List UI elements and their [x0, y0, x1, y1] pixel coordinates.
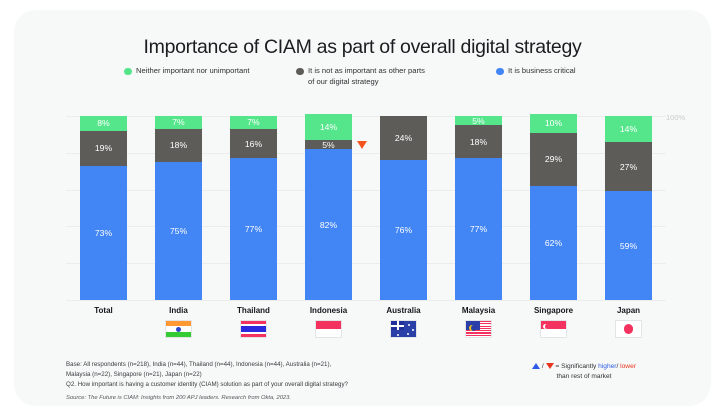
bar-segment-label: 18% [170, 140, 187, 150]
bar-segment-gray[interactable]: 24% [380, 116, 427, 160]
bar-segment-blue[interactable]: 75% [155, 162, 202, 300]
bar-segment-blue[interactable]: 77% [230, 158, 277, 300]
flag-japan-icon [590, 320, 668, 338]
bar-segment-label: 10% [545, 118, 562, 128]
x-axis-label-singapore: Singapore [515, 306, 593, 315]
bar-segment-green[interactable]: 7% [155, 116, 202, 129]
bar-segment-label: 7% [172, 117, 184, 127]
bar-segment-green[interactable]: 14% [605, 116, 652, 142]
chart-legend: Neither important nor unimportant It is … [124, 66, 644, 98]
flag-malaysia-icon [440, 320, 518, 338]
x-axis-label-japan: Japan [590, 306, 668, 315]
bar-india[interactable]: 7%18%75% [155, 116, 202, 300]
significance-slash: / [616, 363, 618, 370]
bar-segment-gray[interactable]: 18% [155, 129, 202, 162]
bar-segment-gray[interactable]: 29% [530, 133, 577, 186]
x-axis-label-thailand: Thailand [215, 306, 293, 315]
legend-dot-gray [296, 68, 304, 76]
bar-segment-label: 14% [620, 124, 637, 134]
footnote-source: Source: The Future is CIAM: Insights fro… [66, 395, 486, 401]
gridline [66, 300, 666, 301]
bar-indonesia[interactable]: 14%5%82% [305, 114, 352, 300]
legend-dot-green [124, 68, 132, 76]
flag-india-icon [140, 320, 218, 338]
chart-card: Importance of CIAM as part of overall di… [14, 10, 711, 406]
bar-segment-label: 19% [95, 143, 112, 153]
legend-item-neither: Neither important nor unimportant [124, 66, 256, 77]
bar-malaysia[interactable]: 5%18%77% [455, 116, 502, 300]
significance-higher: higher [598, 363, 616, 370]
footnote-base-line1: Base: All respondents (n=218), India (n=… [66, 360, 446, 370]
x-axis-label-australia: Australia [365, 306, 443, 315]
bar-segment-label: 73% [95, 228, 112, 238]
bar-segment-blue[interactable]: 73% [80, 166, 127, 300]
x-axis-label-india: India [140, 306, 218, 315]
bar-total[interactable]: 8%19%73% [80, 116, 127, 300]
flag-indonesia-icon [290, 320, 368, 338]
bar-segment-blue[interactable]: 76% [380, 160, 427, 300]
flag-thailand-icon [215, 320, 293, 338]
bar-segment-gray[interactable]: 5% [305, 140, 352, 149]
bar-segment-label: 5% [472, 116, 484, 125]
bar-segment-label: 14% [320, 122, 337, 132]
significance-legend: / = Significantly higher/ lower than res… [484, 362, 684, 382]
bar-segment-label: 75% [170, 226, 187, 236]
bar-segment-gray[interactable]: 27% [605, 142, 652, 192]
bar-segment-green[interactable]: 14% [305, 114, 352, 140]
legend-item-not-as-important: It is not as important as other parts of… [296, 66, 428, 87]
bar-singapore[interactable]: 10%29%62% [530, 114, 577, 300]
significance-equals: = Significantly [555, 363, 596, 370]
bar-segment-blue[interactable]: 77% [455, 158, 502, 300]
footnote-base: Base: All respondents (n=218), India (n=… [66, 360, 446, 390]
bar-segment-label: 76% [395, 225, 412, 235]
bar-australia[interactable]: 24%76% [380, 116, 427, 300]
flag-australia-icon [365, 320, 443, 338]
legend-item-business-critical: It is business critical [496, 66, 668, 77]
bar-segment-green[interactable]: 5% [455, 116, 502, 125]
bar-segment-label: 27% [620, 162, 637, 172]
bar-segment-blue[interactable]: 82% [305, 149, 352, 300]
significance-down-triangle-icon [357, 141, 367, 149]
x-axis-label-total: Total [65, 306, 143, 315]
significance-line2: than rest of market [484, 372, 684, 382]
legend-label-not-as-important: It is not as important as other parts of… [308, 66, 428, 87]
bar-segment-label: 82% [320, 220, 337, 230]
triangle-down-icon [546, 363, 554, 369]
bar-segment-label: 16% [245, 139, 262, 149]
bar-segment-blue[interactable]: 62% [530, 186, 577, 300]
bar-segment-label: 8% [97, 118, 109, 128]
bar-segment-green[interactable]: 7% [230, 116, 277, 129]
bar-segment-label: 24% [395, 133, 412, 143]
footnote-question: Q2. How important is having a customer i… [66, 380, 446, 390]
bar-segment-gray[interactable]: 18% [455, 125, 502, 158]
bar-segment-gray[interactable]: 16% [230, 129, 277, 158]
bar-segment-label: 18% [470, 137, 487, 147]
bar-segment-label: 77% [470, 224, 487, 234]
significance-lower: lower [620, 363, 636, 370]
legend-label-neither: Neither important nor unimportant [136, 66, 256, 77]
flag-singapore-icon [515, 320, 593, 338]
bar-segment-label: 7% [247, 117, 259, 127]
footnote-base-line2: Malaysia (n=22), Singapore (n=21), Japan… [66, 370, 446, 380]
triangle-up-icon [532, 363, 540, 369]
bar-segment-label: 62% [545, 238, 562, 248]
significance-separator: / [542, 363, 544, 370]
bar-segment-blue[interactable]: 59% [605, 191, 652, 300]
legend-dot-blue [496, 68, 504, 76]
bar-segment-label: 77% [245, 224, 262, 234]
bar-segment-label: 5% [322, 140, 334, 150]
bar-segment-gray[interactable]: 19% [80, 131, 127, 166]
x-axis-label-indonesia: Indonesia [290, 306, 368, 315]
x-axis-label-malaysia: Malaysia [440, 306, 518, 315]
legend-label-business-critical: It is business critical [508, 66, 668, 77]
bar-thailand[interactable]: 7%16%77% [230, 116, 277, 300]
bar-segment-green[interactable]: 8% [80, 116, 127, 131]
bar-segment-green[interactable]: 10% [530, 114, 577, 132]
plot-area: 8%19%73%7%18%75%7%16%77%14%5%82%24%76%5%… [66, 116, 666, 300]
chart-title: Importance of CIAM as part of overall di… [14, 36, 711, 59]
bar-segment-label: 59% [620, 241, 637, 251]
axis-top-label: 100% [666, 113, 685, 122]
bar-japan[interactable]: 14%27%59% [605, 116, 652, 300]
bar-segment-label: 29% [545, 154, 562, 164]
